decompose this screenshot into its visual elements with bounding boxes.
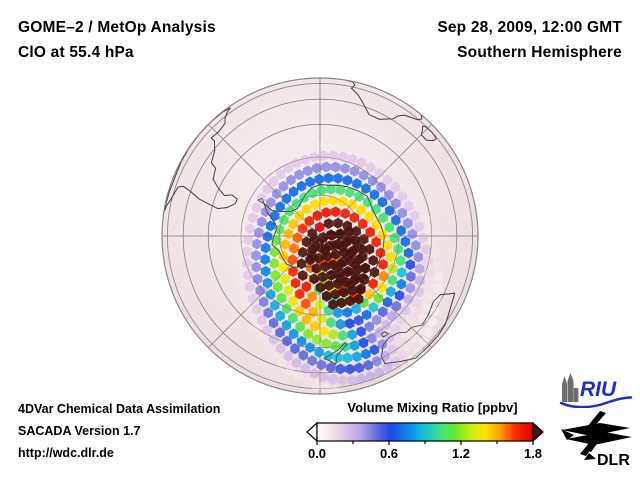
colorbar-ticks xyxy=(317,441,533,445)
colorbar-gradient xyxy=(317,423,533,441)
colorbar-tick-labels: 0.00.61.21.8 xyxy=(300,446,550,464)
colorbar-high-cap xyxy=(533,423,543,441)
method-label: 4DVar Chemical Data Assimilation xyxy=(18,402,220,416)
riu-tower-icon xyxy=(562,373,578,402)
dlr-logo: DLR xyxy=(560,410,634,468)
website-link[interactable]: http://wdc.dlr.de xyxy=(18,446,114,460)
colorbar-tick-label: 0.6 xyxy=(380,446,398,461)
species-subtitle: ClO at 55.4 hPa xyxy=(18,44,134,62)
version-label: SACADA Version 1.7 xyxy=(18,424,141,438)
orthographic-globe xyxy=(160,76,480,396)
hemisphere-label: Southern Hemisphere xyxy=(457,44,622,62)
colorbar[interactable] xyxy=(305,421,545,445)
globe-map xyxy=(160,76,480,396)
colorbar-tick-label: 1.8 xyxy=(524,446,542,461)
dlr-logo-svg: DLR xyxy=(560,410,634,468)
riu-logo: RIU xyxy=(558,372,634,408)
riu-wordmark: RIU xyxy=(580,378,617,401)
page-title: GOME–2 / MetOp Analysis xyxy=(18,19,216,37)
dlr-wordmark: DLR xyxy=(597,452,630,468)
graticule-overlay xyxy=(162,78,478,394)
colorbar-tick-label: 0.0 xyxy=(308,446,326,461)
colorbar-title: Volume Mixing Ratio [ppbv] xyxy=(330,400,535,415)
colorbar-tick-label: 1.2 xyxy=(452,446,470,461)
timestamp-label: Sep 28, 2009, 12:00 GMT xyxy=(437,19,622,37)
colorbar-low-cap xyxy=(307,423,317,441)
riu-logo-svg: RIU xyxy=(558,372,634,408)
colorbar-svg xyxy=(305,421,545,445)
figure-root: GOME–2 / MetOp Analysis ClO at 55.4 hPa … xyxy=(0,0,640,480)
